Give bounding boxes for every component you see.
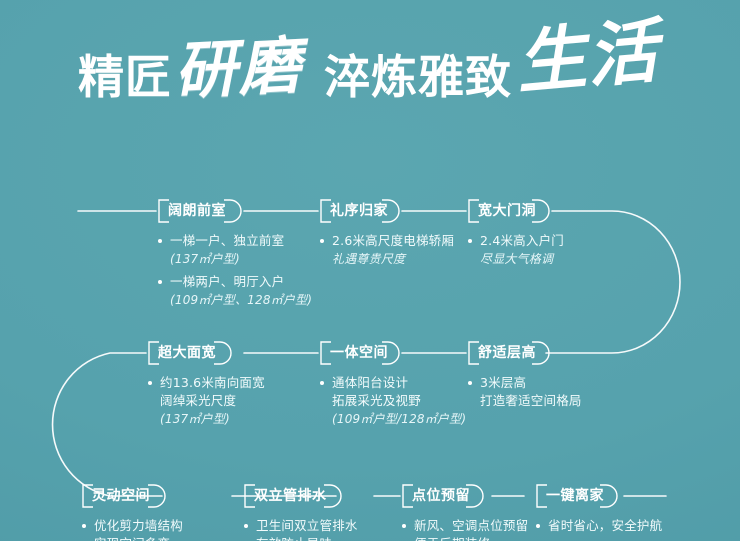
card-label: 点位预留 xyxy=(400,484,486,508)
bullet-dot-icon xyxy=(536,524,540,528)
connector-right-uturn xyxy=(546,211,680,353)
bullet-item: 新风、空调点位预留 便于后期装修 xyxy=(400,517,528,541)
card-row3-col4[interactable]: 一键离家 省时省心，安全护航 xyxy=(534,484,662,535)
bullet-dot-icon xyxy=(158,239,162,243)
card-label-wrap: 舒适层高 xyxy=(466,341,552,365)
bullet-dot-icon xyxy=(468,239,472,243)
bullet-note: (137㎡户型) xyxy=(170,250,312,268)
bullet-item: 约13.6米南向面宽 阔绰采光尺度 (137㎡户型) xyxy=(146,374,265,428)
poster-canvas: 精匠研磨淬炼雅致生活 xyxy=(0,0,740,541)
bullet-text: 新风、空调点位预留 xyxy=(414,517,528,535)
bullet-note: (109㎡户型、128㎡户型) xyxy=(170,291,312,309)
card-row2-col3[interactable]: 舒适层高 3米层高 打造奢适空间格局 xyxy=(466,341,582,410)
card-bullets: 新风、空调点位预留 便于后期装修 xyxy=(400,517,528,541)
bullet-text: 一梯两户、明厅入户 xyxy=(170,273,312,291)
card-row3-col3[interactable]: 点位预留 新风、空调点位预留 便于后期装修 xyxy=(400,484,528,541)
card-bullets: 一梯一户、独立前室 (137㎡户型) 一梯两户、明厅入户 (109㎡户型、128… xyxy=(156,232,312,309)
card-row2-col1[interactable]: 超大面宽 约13.6米南向面宽 阔绰采光尺度 (137㎡户型) xyxy=(146,341,265,428)
card-label: 一体空间 xyxy=(318,341,402,365)
card-row1-col1[interactable]: 阔朗前室 一梯一户、独立前室 (137㎡户型) 一梯两户、明厅入户 (109㎡户… xyxy=(156,199,312,309)
bullet-item: 优化剪力墙结构 实现空间多变 xyxy=(80,517,183,541)
bullet-item: 3米层高 打造奢适空间格局 xyxy=(466,374,582,410)
card-label: 阔朗前室 xyxy=(156,199,244,223)
card-bullets: 卫生间双立管排水 有效防止异味 xyxy=(242,517,358,541)
card-label-wrap: 点位预留 xyxy=(400,484,486,508)
bullet-text: 优化剪力墙结构 xyxy=(94,517,183,535)
card-bullets: 通体阳台设计 拓展采光及视野 (109㎡户型/128㎡户型) xyxy=(318,374,466,428)
card-label-wrap: 宽大门洞 xyxy=(466,199,552,223)
bullet-item: 一梯两户、明厅入户 (109㎡户型、128㎡户型) xyxy=(156,273,312,309)
bullet-dot-icon xyxy=(158,280,162,284)
bullet-dot-icon xyxy=(468,381,472,385)
card-label-wrap: 超大面宽 xyxy=(146,341,234,365)
bullet-text: 省时省心，安全护航 xyxy=(548,517,662,535)
bullet-subline: 打造奢适空间格局 xyxy=(480,392,582,410)
card-label: 双立管排水 xyxy=(242,484,344,508)
bullet-dot-icon xyxy=(148,381,152,385)
card-row3-col2[interactable]: 双立管排水 卫生间双立管排水 有效防止异味 xyxy=(242,484,358,541)
bullet-subline: 拓展采光及视野 xyxy=(332,392,466,410)
bullet-note: 礼遇尊贵尺度 xyxy=(332,250,454,268)
card-row2-col2[interactable]: 一体空间 通体阳台设计 拓展采光及视野 (109㎡户型/128㎡户型) xyxy=(318,341,466,428)
bullet-text: 2.6米高尺度电梯轿厢 xyxy=(332,232,454,250)
bullet-dot-icon xyxy=(82,524,86,528)
bullet-note: (137㎡户型) xyxy=(160,410,265,428)
card-row1-col3[interactable]: 宽大门洞 2.4米高入户门 尽显大气格调 xyxy=(466,199,564,268)
card-bullets: 省时省心，安全护航 xyxy=(534,517,662,535)
card-row3-col1[interactable]: 灵动空间 优化剪力墙结构 实现空间多变 xyxy=(80,484,183,541)
bullet-text: 卫生间双立管排水 xyxy=(256,517,358,535)
bullet-dot-icon xyxy=(320,381,324,385)
bullet-subline: 实现空间多变 xyxy=(94,535,183,541)
bullet-dot-icon xyxy=(402,524,406,528)
bullet-item: 通体阳台设计 拓展采光及视野 (109㎡户型/128㎡户型) xyxy=(318,374,466,428)
bullet-item: 2.4米高入户门 尽显大气格调 xyxy=(466,232,564,268)
card-label-wrap: 灵动空间 xyxy=(80,484,168,508)
card-bullets: 约13.6米南向面宽 阔绰采光尺度 (137㎡户型) xyxy=(146,374,265,428)
card-label: 礼序归家 xyxy=(318,199,402,223)
card-label-wrap: 礼序归家 xyxy=(318,199,402,223)
bullet-note: 尽显大气格调 xyxy=(480,250,564,268)
bullet-text: 约13.6米南向面宽 xyxy=(160,374,265,392)
card-bullets: 2.6米高尺度电梯轿厢 礼遇尊贵尺度 xyxy=(318,232,454,268)
card-label: 超大面宽 xyxy=(146,341,234,365)
bullet-text: 3米层高 xyxy=(480,374,582,392)
card-bullets: 优化剪力墙结构 实现空间多变 xyxy=(80,517,183,541)
bullet-text: 通体阳台设计 xyxy=(332,374,466,392)
card-bullets: 3米层高 打造奢适空间格局 xyxy=(466,374,582,410)
bullet-subline: 便于后期装修 xyxy=(414,535,528,541)
bullet-dot-icon xyxy=(244,524,248,528)
bullet-subline: 有效防止异味 xyxy=(256,535,358,541)
card-label: 灵动空间 xyxy=(80,484,168,508)
bullet-subline: 阔绰采光尺度 xyxy=(160,392,265,410)
bullet-dot-icon xyxy=(320,239,324,243)
bullet-note: (109㎡户型/128㎡户型) xyxy=(332,410,466,428)
card-label: 宽大门洞 xyxy=(466,199,552,223)
card-label-wrap: 一键离家 xyxy=(534,484,620,508)
bullet-item: 卫生间双立管排水 有效防止异味 xyxy=(242,517,358,541)
card-row1-col2[interactable]: 礼序归家 2.6米高尺度电梯轿厢 礼遇尊贵尺度 xyxy=(318,199,454,268)
card-label-wrap: 一体空间 xyxy=(318,341,402,365)
card-label-wrap: 双立管排水 xyxy=(242,484,344,508)
card-label: 一键离家 xyxy=(534,484,620,508)
bullet-text: 一梯一户、独立前室 xyxy=(170,232,312,250)
card-bullets: 2.4米高入户门 尽显大气格调 xyxy=(466,232,564,268)
card-label: 舒适层高 xyxy=(466,341,552,365)
connector-lines xyxy=(0,0,740,541)
bullet-item: 2.6米高尺度电梯轿厢 礼遇尊贵尺度 xyxy=(318,232,454,268)
bullet-text: 2.4米高入户门 xyxy=(480,232,564,250)
bullet-item: 一梯一户、独立前室 (137㎡户型) xyxy=(156,232,312,268)
bullet-item: 省时省心，安全护航 xyxy=(534,517,662,535)
card-label-wrap: 阔朗前室 xyxy=(156,199,244,223)
